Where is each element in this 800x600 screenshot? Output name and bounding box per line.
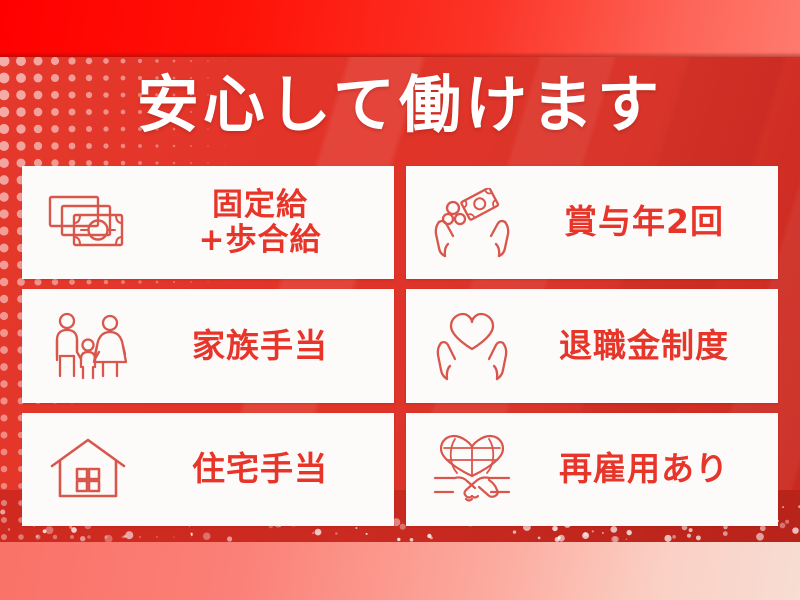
benefit-card-housing-allowance[interactable]: 住宅手当	[22, 413, 394, 526]
benefit-label: 固定給 +歩合給	[140, 188, 388, 257]
hands-with-heart-icon	[420, 309, 524, 383]
benefit-card-family-allowance[interactable]: 家族手当	[22, 289, 394, 402]
hands-with-money-icon	[420, 186, 524, 260]
banknotes-icon	[36, 186, 140, 260]
page-title: 安心して働けます	[0, 72, 800, 137]
benefit-label: 家族手当	[140, 328, 388, 365]
house-icon	[36, 432, 140, 506]
family-icon	[36, 309, 140, 383]
benefit-card-retirement-allowance[interactable]: 退職金制度	[406, 289, 778, 402]
benefit-label: 退職金制度	[524, 328, 772, 365]
benefit-label: 住宅手当	[140, 451, 388, 488]
benefit-label: 賞与年2回	[524, 204, 772, 241]
globe-handshake-icon	[420, 432, 524, 506]
benefit-label: 再雇用あり	[524, 451, 772, 488]
benefit-card-fixed-plus-commission[interactable]: 固定給 +歩合給	[22, 166, 394, 279]
benefits-grid: 固定給 +歩合給	[22, 166, 778, 526]
benefit-card-rehire-available[interactable]: 再雇用あり	[406, 413, 778, 526]
top-accent-bar	[0, 0, 800, 57]
poster-root: 安心して働けます 固定給 +歩合給	[0, 0, 800, 600]
benefit-card-bonus-twice-a-year[interactable]: 賞与年2回	[406, 166, 778, 279]
footer-gradient-band	[0, 542, 800, 600]
